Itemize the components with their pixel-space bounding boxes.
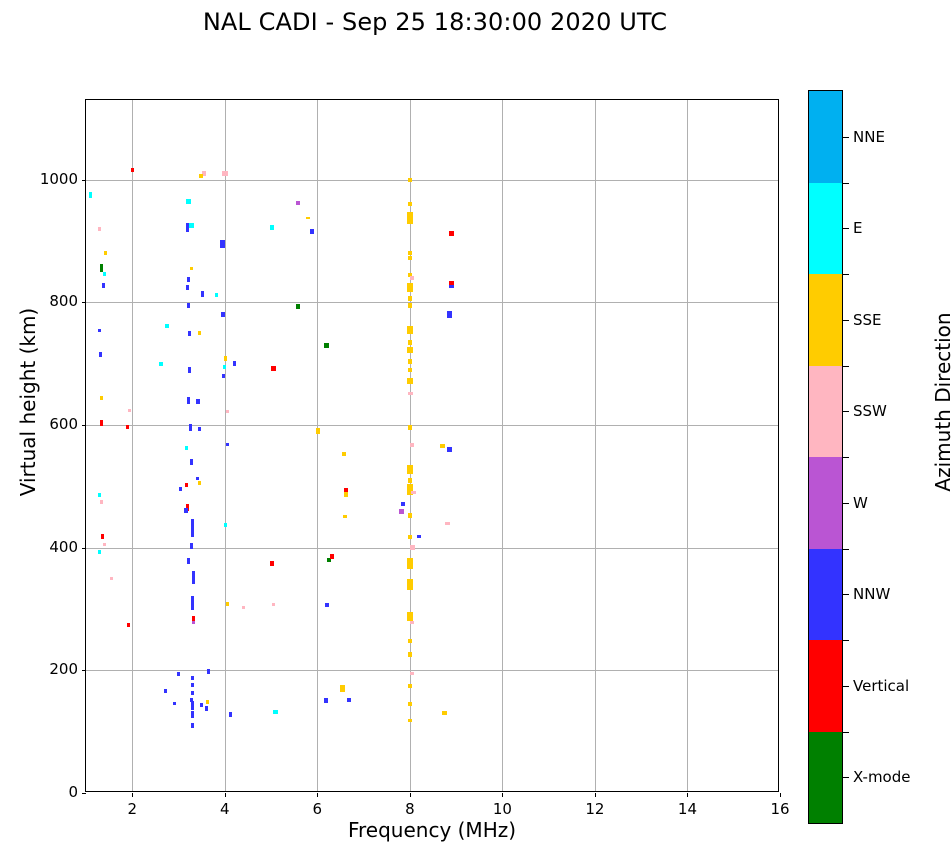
echo-marker (126, 425, 129, 429)
echo-marker (98, 550, 101, 553)
echo-marker (324, 698, 328, 702)
echo-marker (191, 691, 194, 695)
colorbar-segment-x-mode (809, 732, 842, 824)
echo-marker (98, 329, 101, 331)
colorbar-segment-w (809, 457, 842, 549)
echo-marker (223, 365, 226, 369)
x-axis-label: Frequency (MHz) (85, 818, 779, 842)
echo-marker (407, 612, 413, 621)
echo-marker (196, 399, 199, 404)
echo-marker (445, 522, 450, 525)
echo-marker (131, 168, 134, 172)
echo-marker (411, 491, 416, 495)
echo-marker (399, 509, 403, 515)
echo-marker (220, 240, 224, 248)
colorbar-tick-label-w: W (853, 494, 868, 512)
colorbar-tick-label-ssw: SSW (853, 402, 887, 420)
x-axis-tick (132, 793, 133, 797)
echo-marker (408, 478, 413, 483)
gridline-vertical (687, 100, 688, 791)
y-axis-tick (82, 548, 86, 549)
echo-marker (188, 367, 191, 373)
echo-marker (408, 719, 413, 723)
x-axis-tick (687, 793, 688, 797)
echo-marker (408, 202, 412, 206)
echo-marker (408, 425, 413, 430)
echo-marker (186, 199, 191, 204)
colorbar-tick-label-sse: SSE (853, 311, 882, 329)
y-axis-tick (82, 670, 86, 671)
echo-marker (165, 324, 170, 328)
echo-marker (410, 276, 415, 280)
echo-marker (440, 444, 445, 448)
echo-marker (342, 452, 347, 456)
echo-marker (449, 231, 455, 236)
echo-marker (407, 347, 413, 353)
gridline-vertical (132, 100, 133, 791)
x-axis-tick (317, 793, 318, 797)
x-axis-tick-label: 2 (112, 800, 152, 818)
y-axis-tick-label: 0 (32, 783, 78, 801)
colorbar-tick (843, 503, 849, 504)
colorbar-tick-label-vertical: Vertical (853, 677, 909, 695)
echo-marker (201, 291, 204, 297)
echo-marker (408, 303, 413, 307)
x-axis-tick (225, 793, 226, 797)
echo-marker (102, 283, 105, 288)
echo-marker (407, 212, 413, 224)
x-axis-tick-label: 16 (760, 800, 800, 818)
echo-marker (206, 700, 209, 704)
echo-marker (408, 639, 413, 643)
echo-marker (233, 361, 236, 367)
echo-marker (198, 481, 201, 485)
echo-marker (100, 264, 103, 271)
echo-marker (187, 397, 190, 405)
colorbar-tick (843, 594, 849, 595)
echo-marker (192, 571, 195, 584)
echo-marker (347, 698, 351, 702)
echo-marker (408, 256, 413, 260)
echo-marker (408, 359, 413, 364)
echo-marker (191, 711, 194, 717)
x-axis-tick (595, 793, 596, 797)
echo-marker (98, 227, 101, 231)
echo-marker (100, 396, 103, 400)
colorbar-segment-e (809, 183, 842, 275)
echo-marker (103, 272, 106, 276)
echo-marker (407, 326, 413, 333)
colorbar-boundary-tick (843, 274, 849, 275)
echo-marker (190, 543, 193, 549)
colorbar-tick-label-x-mode: X-mode (853, 768, 910, 786)
echo-marker (229, 712, 232, 716)
colorbar-segment-nne (809, 91, 842, 183)
echo-marker (104, 251, 107, 255)
echo-marker (191, 701, 194, 710)
echo-marker (103, 543, 106, 547)
echo-marker (407, 378, 413, 384)
echo-marker (190, 267, 193, 271)
echo-marker (191, 596, 194, 609)
echo-marker (226, 443, 229, 445)
colorbar-segment-vertical (809, 640, 842, 732)
echo-marker (410, 545, 415, 551)
colorbar-tick-label-nne: NNE (853, 128, 885, 146)
echo-marker (100, 500, 103, 504)
x-axis-tick-label: 6 (297, 800, 337, 818)
echo-marker (271, 366, 276, 371)
echo-marker (99, 352, 102, 357)
echo-marker (408, 392, 413, 395)
echo-marker (408, 513, 413, 518)
x-axis-tick (502, 793, 503, 797)
colorbar-segment-sse (809, 274, 842, 366)
echo-marker (408, 368, 413, 372)
echo-marker (222, 171, 228, 175)
plot-area (86, 100, 778, 791)
x-axis-tick-label: 10 (482, 800, 522, 818)
echo-marker (215, 293, 218, 297)
colorbar-tick (843, 411, 849, 412)
echo-marker (410, 672, 415, 676)
echo-marker (173, 702, 176, 706)
gridline-horizontal (86, 670, 778, 671)
echo-marker (340, 685, 345, 692)
echo-marker (410, 621, 415, 625)
ionogram-figure: NAL CADI - Sep 25 18:30:00 2020 UTC 2468… (0, 0, 951, 856)
y-axis-tick (82, 425, 86, 426)
echo-marker (179, 487, 182, 491)
echo-marker (188, 331, 191, 337)
colorbar-label: Azimuth Direction (931, 252, 951, 552)
echo-marker (401, 502, 405, 506)
echo-marker (159, 362, 162, 366)
y-axis-tick (82, 302, 86, 303)
x-axis-tick-label: 12 (575, 800, 615, 818)
colorbar-boundary-tick (843, 732, 849, 733)
echo-marker (222, 374, 225, 378)
echo-marker (185, 483, 188, 487)
echo-marker (272, 603, 276, 606)
colorbar-boundary-tick (843, 640, 849, 641)
colorbar-tick-label-e: E (853, 219, 862, 237)
echo-marker (205, 706, 208, 710)
echo-marker (270, 561, 274, 566)
echo-marker (408, 652, 413, 658)
echo-marker (191, 676, 194, 680)
echo-marker (187, 277, 190, 282)
echo-marker (98, 493, 101, 497)
echo-marker (410, 443, 415, 447)
echo-marker (164, 689, 167, 693)
colorbar-boundary-tick (843, 549, 849, 550)
colorbar-segment-nnw (809, 549, 842, 641)
echo-marker (408, 340, 413, 345)
echo-marker (224, 356, 227, 361)
echo-marker (449, 285, 455, 288)
echo-marker (296, 201, 299, 206)
echo-marker (442, 711, 447, 715)
echo-marker (344, 492, 349, 497)
echo-marker (407, 579, 413, 590)
colorbar-boundary-tick (843, 366, 849, 367)
echo-marker (447, 447, 452, 451)
colorbar-segment-ssw (809, 366, 842, 458)
echo-marker (192, 621, 195, 625)
echo-marker (270, 225, 275, 229)
echo-marker (191, 683, 194, 687)
echo-marker (187, 303, 190, 309)
colorbar-tick-label-nnw: NNW (853, 585, 890, 603)
plot-frame: 24681012141602004006008001000 (85, 99, 779, 792)
echo-marker (127, 623, 130, 627)
echo-marker (196, 477, 199, 479)
echo-marker (101, 534, 104, 539)
y-axis-tick-label: 200 (32, 660, 78, 678)
echo-marker (110, 577, 113, 581)
x-axis-tick (410, 793, 411, 797)
gridline-vertical (595, 100, 596, 791)
echo-marker (200, 703, 203, 707)
echo-marker (316, 428, 320, 434)
echo-marker (310, 229, 314, 234)
gridline-horizontal (86, 180, 778, 181)
echo-marker (184, 508, 187, 513)
echo-marker (221, 312, 224, 317)
y-axis-label: Virtual height (km) (16, 252, 40, 552)
echo-marker (407, 283, 413, 292)
echo-marker (408, 251, 413, 255)
echo-marker (407, 465, 413, 474)
echo-marker (343, 515, 347, 519)
echo-marker (128, 409, 131, 412)
echo-marker (226, 410, 229, 414)
colorbar-tick (843, 320, 849, 321)
echo-marker (186, 285, 189, 290)
echo-marker (185, 446, 188, 450)
colorbar-tick (843, 228, 849, 229)
echo-marker (177, 672, 180, 676)
gridline-vertical (317, 100, 318, 791)
echo-marker (325, 603, 329, 607)
echo-marker (296, 304, 299, 309)
echo-marker (226, 602, 229, 606)
echo-marker (273, 710, 278, 715)
x-axis-tick-label: 14 (667, 800, 707, 818)
echo-marker (447, 311, 452, 318)
echo-marker (224, 523, 227, 527)
echo-marker (199, 174, 203, 179)
colorbar-tick (843, 686, 849, 687)
echo-marker (198, 331, 201, 335)
page-title: NAL CADI - Sep 25 18:30:00 2020 UTC (0, 8, 870, 36)
y-axis-tick (82, 180, 86, 181)
gridline-vertical (502, 100, 503, 791)
echo-marker (330, 554, 334, 559)
y-axis-tick (82, 793, 86, 794)
colorbar-tick (843, 777, 849, 778)
echo-marker (198, 427, 201, 431)
echo-marker (408, 178, 412, 182)
echo-marker (408, 535, 413, 539)
colorbar-tick (843, 137, 849, 138)
x-axis-tick (780, 793, 781, 797)
echo-marker (187, 558, 190, 564)
echo-marker (189, 223, 193, 228)
echo-marker (417, 535, 421, 539)
x-axis-tick-label: 4 (205, 800, 245, 818)
echo-marker (408, 296, 413, 301)
echo-marker (190, 459, 193, 465)
y-axis-tick-label: 1000 (32, 170, 78, 188)
echo-marker (407, 558, 413, 569)
colorbar: NNEESSESSWWNNWVerticalX-mode (808, 90, 843, 824)
echo-marker (408, 702, 413, 706)
echo-marker (207, 669, 210, 673)
echo-marker (242, 606, 245, 609)
x-axis-tick-label: 8 (390, 800, 430, 818)
echo-marker (89, 192, 92, 198)
echo-marker (191, 723, 194, 727)
echo-marker (191, 519, 194, 537)
colorbar-boundary-tick (843, 457, 849, 458)
echo-marker (100, 420, 103, 426)
echo-marker (324, 343, 329, 348)
colorbar-boundary-tick (843, 183, 849, 184)
echo-marker (408, 684, 413, 688)
echo-marker (306, 217, 310, 219)
echo-marker (189, 424, 192, 430)
